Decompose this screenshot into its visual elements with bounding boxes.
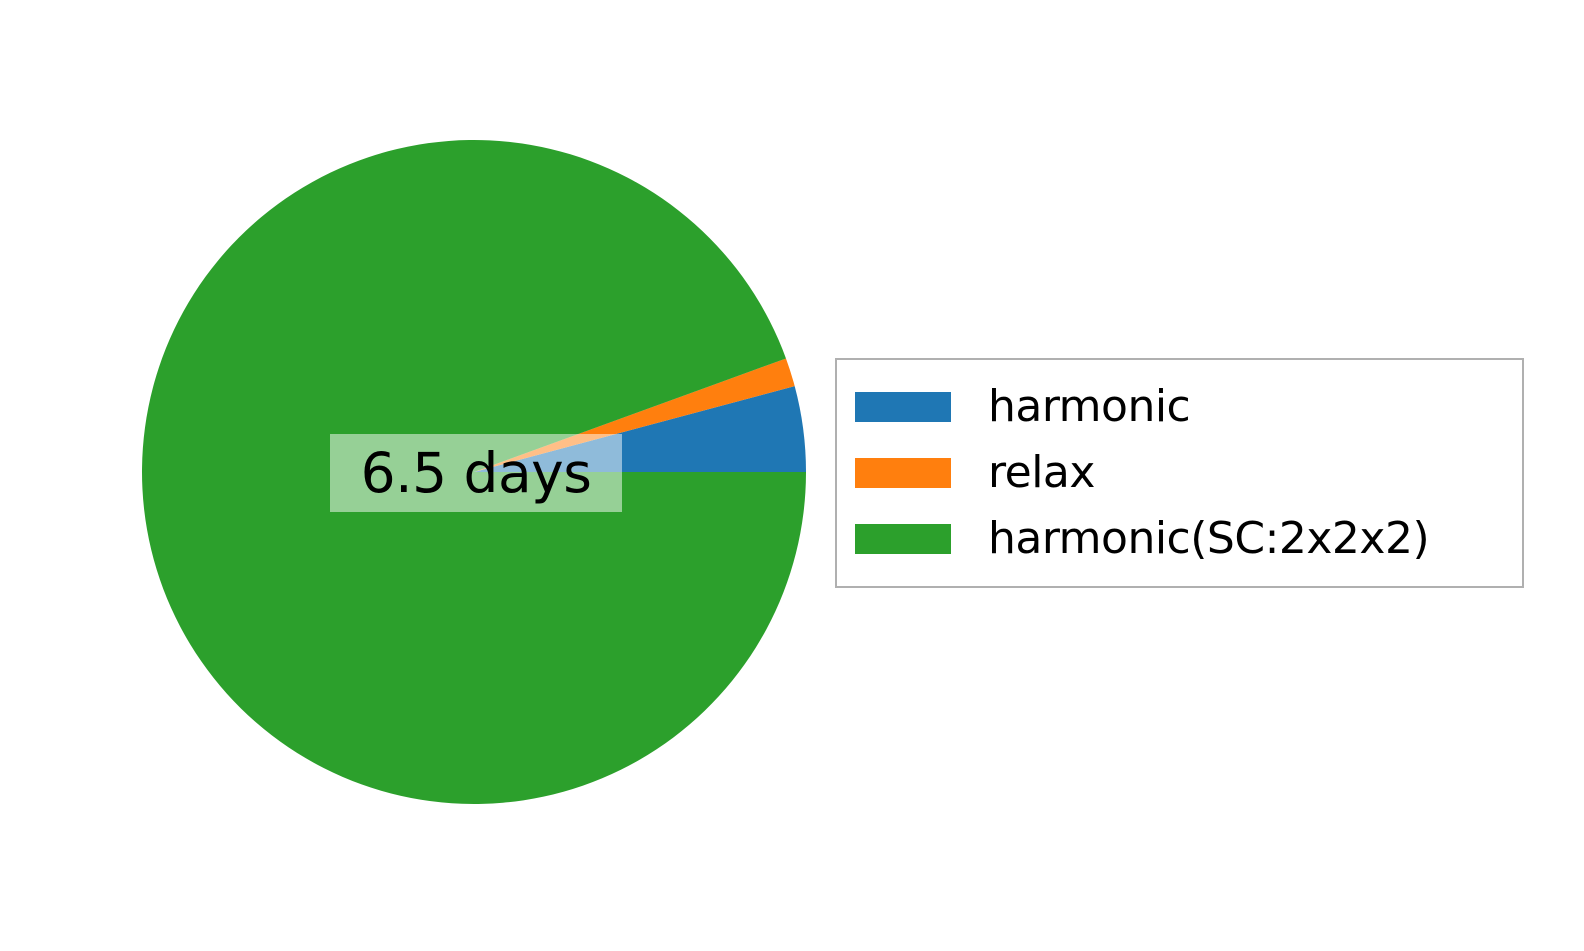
legend-swatch-relax-icon: [855, 458, 951, 488]
legend-swatch-harmonic-sc-icon: [855, 524, 951, 554]
legend-entries: harmonic relax harmonic(SC:2x2x2): [855, 374, 1504, 572]
legend-label-harmonic-sc: harmonic(SC:2x2x2): [988, 517, 1429, 561]
pie-slice-label-text: 6.5 days: [361, 446, 592, 501]
legend-label-harmonic: harmonic: [988, 385, 1190, 429]
legend-label-relax: relax: [988, 451, 1095, 495]
legend-entry-harmonic-sc[interactable]: harmonic(SC:2x2x2): [855, 506, 1504, 572]
pie-slice-label: 6.5 days: [330, 434, 622, 512]
legend-entry-relax[interactable]: relax: [855, 440, 1504, 506]
legend-entry-harmonic[interactable]: harmonic: [855, 374, 1504, 440]
legend-box: harmonic relax harmonic(SC:2x2x2): [835, 358, 1524, 588]
figure-canvas: 6.5 days harmonic relax harmonic(SC:2x2x…: [0, 0, 1584, 951]
legend-swatch-harmonic-icon: [855, 392, 951, 422]
